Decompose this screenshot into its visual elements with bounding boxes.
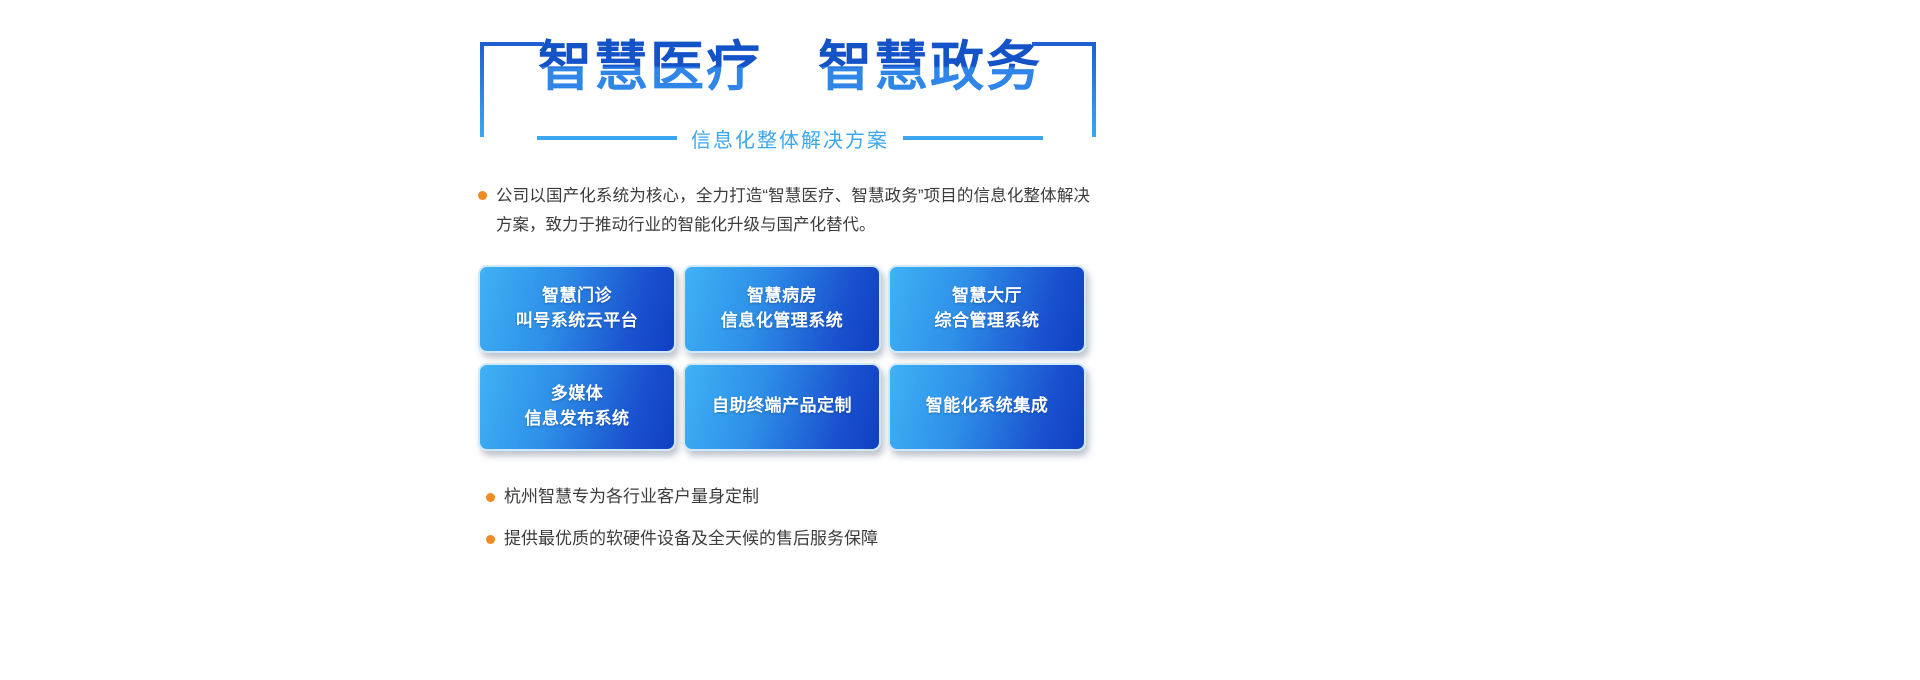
solution-card-label: 智能化系统集成 — [926, 394, 1049, 419]
intro-text: 公司以国产化系统为核心，全力打造“智慧医疗、智慧政务”项目的信息化整体解决方案，… — [496, 182, 1090, 241]
promo-banner: 智慧医疗 智慧政务 信息化整体解决方案 公司以国产化系统为核心，全力打造“智慧医… — [0, 0, 1920, 680]
subtitle-row: 信息化整体解决方案 — [470, 124, 1110, 152]
solution-card[interactable]: 智慧大厅 综合管理系统 — [888, 265, 1086, 353]
feature-bullet-list: 杭州智慧专为各行业客户量身定制 提供最优质的软硬件设备及全天候的售后服务保障 — [470, 485, 1130, 551]
content-column: 智慧医疗 智慧政务 信息化整体解决方案 公司以国产化系统为核心，全力打造“智慧医… — [470, 0, 1130, 680]
solution-card-label: 多媒体 信息发布系统 — [525, 382, 630, 431]
subtitle-rule-left — [537, 136, 677, 140]
solution-card[interactable]: 多媒体 信息发布系统 — [478, 363, 676, 451]
bullet-text: 杭州智慧专为各行业客户量身定制 — [504, 487, 759, 506]
subtitle-rule-right — [903, 136, 1043, 140]
solution-card[interactable]: 智慧病房 信息化管理系统 — [683, 265, 881, 353]
page-subtitle: 信息化整体解决方案 — [691, 124, 889, 153]
bullet-dot-icon — [486, 493, 495, 502]
bullet-dot-icon — [478, 191, 487, 200]
list-item: 提供最优质的软硬件设备及全天候的售后服务保障 — [478, 527, 1130, 551]
solution-card[interactable]: 智能化系统集成 — [888, 363, 1086, 451]
intro-paragraph: 公司以国产化系统为核心，全力打造“智慧医疗、智慧政务”项目的信息化整体解决方案，… — [470, 182, 1090, 241]
list-item: 杭州智慧专为各行业客户量身定制 — [478, 485, 1130, 509]
title-block: 智慧医疗 智慧政务 信息化整体解决方案 — [470, 26, 1110, 156]
solution-card-label: 智慧病房 信息化管理系统 — [721, 284, 844, 333]
solution-card[interactable]: 智慧门诊 叫号系统云平台 — [478, 265, 676, 353]
solution-card-label: 智慧门诊 叫号系统云平台 — [516, 284, 639, 333]
solution-card[interactable]: 自助终端产品定制 — [683, 363, 881, 451]
bullet-text: 提供最优质的软硬件设备及全天候的售后服务保障 — [504, 529, 878, 548]
solution-card-label: 自助终端产品定制 — [712, 394, 852, 419]
solution-card-grid: 智慧门诊 叫号系统云平台 智慧病房 信息化管理系统 智慧大厅 综合管理系统 多媒… — [478, 265, 1102, 451]
solution-card-label: 智慧大厅 综合管理系统 — [935, 284, 1040, 333]
bullet-dot-icon — [486, 535, 495, 544]
page-title: 智慧医疗 智慧政务 — [470, 36, 1110, 98]
